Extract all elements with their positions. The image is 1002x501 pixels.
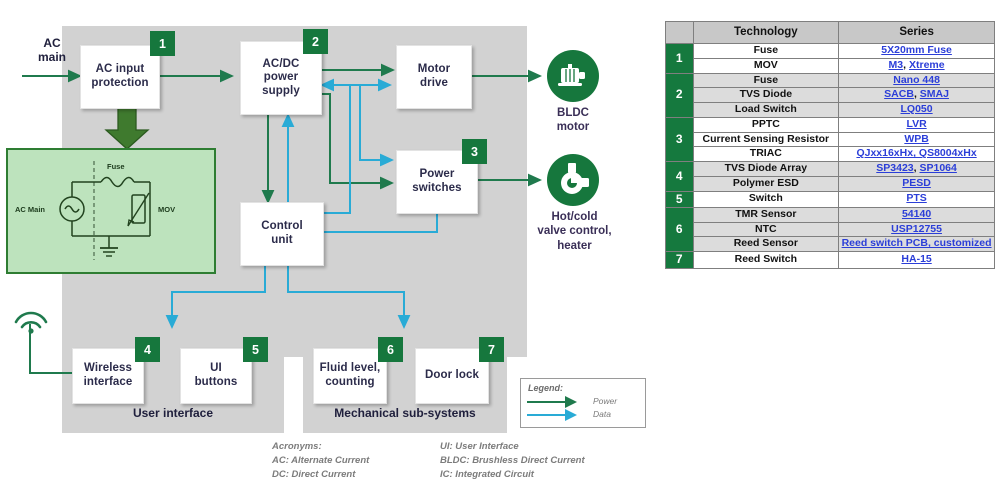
- cell-technology: TVS Diode Array: [693, 162, 839, 177]
- series-link[interactable]: M3: [889, 59, 904, 71]
- legend-title: Legend:: [528, 383, 563, 393]
- cell-technology: NTC: [693, 222, 839, 237]
- table-row: 1Fuse5X20mm Fuse: [666, 44, 995, 59]
- cell-technology: Reed Switch: [693, 252, 839, 268]
- series-link[interactable]: HA-15: [901, 253, 931, 265]
- schematic-fuse-label: Fuse: [107, 162, 125, 171]
- series-link[interactable]: PESD: [902, 177, 931, 189]
- acronym-dc: DC: Direct Current: [272, 468, 369, 482]
- row-group-number: 4: [666, 162, 694, 192]
- cell-series: USP12755: [839, 222, 995, 237]
- block-ui-buttons[interactable]: UI buttons: [180, 348, 252, 404]
- badge-3: 3: [462, 139, 487, 164]
- cell-technology: Reed Sensor: [693, 237, 839, 252]
- acronym-bldc: BLDC: Brushless Direct Current: [440, 454, 585, 468]
- cell-technology: TMR Sensor: [693, 207, 839, 222]
- badge-2: 2: [303, 29, 328, 54]
- valve-heater-label: Hot/cold valve control, heater: [522, 210, 627, 253]
- cell-technology: Fuse: [693, 44, 839, 59]
- table-row: Polymer ESDPESD: [666, 176, 995, 191]
- row-group-number: 6: [666, 207, 694, 251]
- row-group-number: 7: [666, 252, 694, 268]
- series-link[interactable]: SACB: [884, 88, 914, 100]
- table-row: 5SwitchPTS: [666, 191, 995, 207]
- block-control-unit[interactable]: Control unit: [240, 202, 324, 266]
- series-link[interactable]: SMAJ: [920, 88, 949, 100]
- series-link[interactable]: LQ050: [901, 103, 933, 115]
- legend-power-label: Power: [593, 396, 617, 406]
- series-link[interactable]: WPB: [904, 133, 929, 145]
- cell-series: Reed switch PCB, customized: [839, 237, 995, 252]
- table-row: 6TMR Sensor54140: [666, 207, 995, 222]
- table-row: Current Sensing ResistorWPB: [666, 132, 995, 147]
- series-link[interactable]: 54140: [902, 208, 931, 220]
- cell-technology: TRIAC: [693, 147, 839, 162]
- cell-technology: Load Switch: [693, 103, 839, 118]
- table-row: TRIACQJxx16xHx, QS8004xHx: [666, 147, 995, 162]
- row-group-number: 2: [666, 73, 694, 117]
- cell-series: PESD: [839, 176, 995, 191]
- block-motor-drive[interactable]: Motor drive: [396, 45, 472, 109]
- table-row: MOVM3, Xtreme: [666, 58, 995, 73]
- legend-arrows: [527, 397, 587, 423]
- cell-series: HA-15: [839, 252, 995, 268]
- series-link[interactable]: Xtreme: [909, 59, 945, 71]
- row-group-number: 3: [666, 117, 694, 161]
- badge-5: 5: [243, 337, 268, 362]
- cell-technology: Polymer ESD: [693, 176, 839, 191]
- wifi-icon: [12, 306, 50, 332]
- series-link[interactable]: PTS: [906, 192, 926, 204]
- table-row: 2FuseNano 448: [666, 73, 995, 88]
- acronyms-heading: Acronyms:: [272, 440, 369, 454]
- cell-series: 5X20mm Fuse: [839, 44, 995, 59]
- series-link[interactable]: 5X20mm Fuse: [881, 44, 952, 56]
- table-row: 4TVS Diode ArraySP3423, SP1064: [666, 162, 995, 177]
- block-door-lock[interactable]: Door lock: [415, 348, 489, 404]
- series-link[interactable]: USP12755: [891, 223, 942, 235]
- table-row: 3PPTCLVR: [666, 117, 995, 132]
- cell-series: LQ050: [839, 103, 995, 118]
- cell-series: SACB, SMAJ: [839, 88, 995, 103]
- cell-technology: PPTC: [693, 117, 839, 132]
- header-technology: Technology: [693, 22, 839, 44]
- cell-series: LVR: [839, 117, 995, 132]
- cell-series: M3, Xtreme: [839, 58, 995, 73]
- badge-1: 1: [150, 31, 175, 56]
- acronym-ac: AC: Alternate Current: [272, 454, 369, 468]
- table-row: NTCUSP12755: [666, 222, 995, 237]
- component-table: Technology Series 1Fuse5X20mm FuseMOVM3,…: [665, 21, 995, 269]
- block-wireless-interface[interactable]: Wireless interface: [72, 348, 144, 404]
- table-header-row: Technology Series: [666, 22, 995, 44]
- series-link[interactable]: SP1064: [920, 162, 957, 174]
- valve-glyph-icon: [557, 162, 591, 198]
- block-fluid-level[interactable]: Fluid level, counting: [313, 348, 387, 404]
- cell-technology: Switch: [693, 191, 839, 207]
- header-num: [666, 22, 694, 44]
- bldc-motor-label: BLDC motor: [533, 106, 613, 135]
- table-row: Load SwitchLQ050: [666, 103, 995, 118]
- cell-technology: TVS Diode: [693, 88, 839, 103]
- drilldown-arrow-icon: [105, 108, 151, 150]
- row-group-number: 1: [666, 44, 694, 74]
- ac-input-schematic: AC Main Fuse MOV: [6, 148, 216, 274]
- series-link[interactable]: SP3423: [876, 162, 913, 174]
- block-ac-input-protection[interactable]: AC input protection: [80, 45, 160, 109]
- acronym-ic: IC: Integrated Circuit: [440, 468, 585, 482]
- ac-main-input-label: AC main: [24, 36, 80, 65]
- cell-series: WPB: [839, 132, 995, 147]
- cell-series: PTS: [839, 191, 995, 207]
- row-group-number: 5: [666, 191, 694, 207]
- acronym-ui: UI: User Interface: [440, 440, 585, 454]
- series-link[interactable]: Reed switch PCB, customized: [842, 237, 992, 249]
- cell-series: SP3423, SP1064: [839, 162, 995, 177]
- table-row: TVS DiodeSACB, SMAJ: [666, 88, 995, 103]
- badge-7: 7: [479, 337, 504, 362]
- motor-glyph-icon: [556, 62, 591, 90]
- legend-data-label: Data: [593, 409, 611, 419]
- table-row: Reed SensorReed switch PCB, customized: [666, 237, 995, 252]
- table-body: 1Fuse5X20mm FuseMOVM3, Xtreme2FuseNano 4…: [666, 44, 995, 269]
- badge-4: 4: [135, 337, 160, 362]
- table-row: 7Reed SwitchHA-15: [666, 252, 995, 268]
- cell-series: 54140: [839, 207, 995, 222]
- cell-series: QJxx16xHx, QS8004xHx: [839, 147, 995, 162]
- series-link[interactable]: Nano 448: [893, 74, 940, 86]
- acronyms-left: Acronyms: AC: Alternate Current DC: Dire…: [272, 440, 369, 481]
- series-link[interactable]: LVR: [906, 118, 926, 130]
- series-link[interactable]: QJxx16xHx, QS8004xHx: [856, 147, 976, 159]
- badge-6: 6: [378, 337, 403, 362]
- cell-technology: MOV: [693, 58, 839, 73]
- cell-series: Nano 448: [839, 73, 995, 88]
- schematic-ac-main-label: AC Main: [15, 205, 45, 214]
- schematic-mov-label: MOV: [158, 205, 175, 214]
- header-series: Series: [839, 22, 995, 44]
- legend-box: Legend: Power Data: [520, 378, 646, 428]
- cell-technology: Current Sensing Resistor: [693, 132, 839, 147]
- acronyms-right: UI: User Interface BLDC: Brushless Direc…: [440, 440, 585, 481]
- cell-technology: Fuse: [693, 73, 839, 88]
